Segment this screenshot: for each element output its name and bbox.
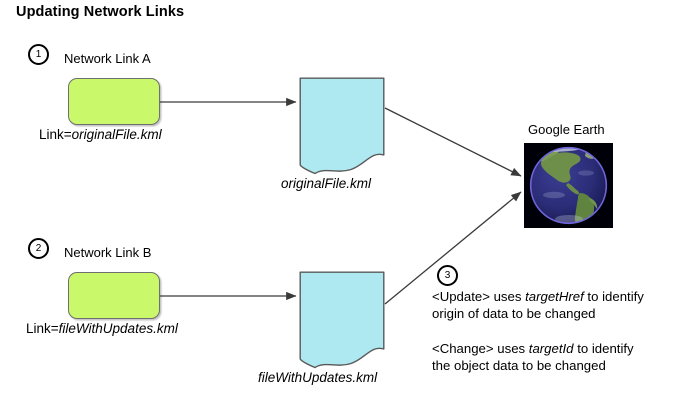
annotation-line-3-prefix: <Change> uses [432,341,529,356]
network-link-b-link-value: fileWithUpdates.kml [59,321,178,336]
document-icon [299,77,385,175]
original-file-document[interactable] [299,77,385,175]
file-with-updates-document[interactable] [299,271,385,369]
annotation-line-3-suffix: to identify [574,341,634,356]
step-marker-3-number: 3 [445,271,451,281]
annotation-line-2: origin of data to be changed [432,305,596,323]
document-icon [299,271,385,369]
network-link-a-link-label: Link=originalFile.kml [39,127,162,142]
step-marker-2: 2 [28,238,49,259]
network-link-a-link-prefix: Link= [39,127,72,142]
annotation-line-2-prefix: origin of data to be changed [432,306,596,321]
network-link-a-link-value: originalFile.kml [72,127,162,142]
google-earth-label: Google Earth [528,122,605,137]
annotation-line-3: <Change> uses targetId to identify [432,340,634,358]
network-link-b-link-prefix: Link= [26,321,59,336]
step-marker-3: 3 [437,265,458,286]
network-link-b-link-label: Link=fileWithUpdates.kml [26,321,178,336]
step-marker-1-number: 1 [36,50,42,60]
step-marker-1: 1 [28,44,49,65]
annotation-line-1-prefix: <Update> uses [432,289,525,304]
network-link-a-node[interactable] [68,78,160,125]
arrow-original-file-to-google-earth [385,108,521,176]
annotation-line-1-emphasis: targetHref [525,289,584,304]
annotation-line-4-prefix: the object data to be changed [432,358,606,373]
annotation-line-3-emphasis: targetId [529,341,574,356]
original-file-caption: originalFile.kml [281,176,371,191]
page-title: Updating Network Links [16,4,184,20]
annotation-line-1: <Update> uses targetHref to identify [432,288,644,306]
google-earth-globe-image[interactable] [524,143,613,228]
file-with-updates-caption: fileWithUpdates.kml [258,370,377,385]
network-link-b-node[interactable] [68,272,160,319]
network-link-a-title: Network Link A [64,51,151,66]
step-marker-2-number: 2 [36,244,42,254]
globe-icon [524,143,613,228]
annotation-line-4: the object data to be changed [432,357,606,375]
annotation-line-1-suffix: to identify [584,289,644,304]
network-link-b-title: Network Link B [64,245,151,260]
diagram-canvas: Updating Network Links 1 Network Link A … [0,0,688,411]
